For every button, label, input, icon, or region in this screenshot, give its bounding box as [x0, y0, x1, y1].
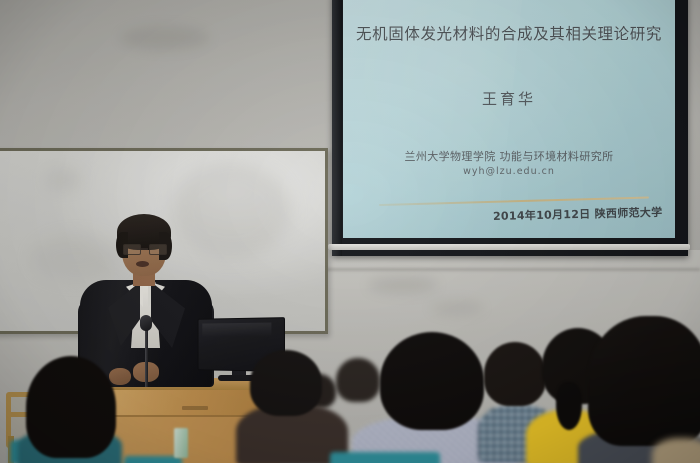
audience-hair	[484, 342, 546, 406]
slide-title: 无机固体发光材料的合成及其相关理论研究	[343, 22, 675, 44]
slide-speaker-name: 王育华	[343, 88, 675, 109]
wall-smudge	[368, 276, 438, 294]
audience-body	[652, 438, 700, 463]
screen-bottom-rail	[328, 244, 690, 250]
audience-head-back	[336, 358, 380, 402]
audience-seat	[330, 452, 440, 463]
audience	[0, 300, 700, 463]
lecture-hall-photo: 无机固体发光材料的合成及其相关理论研究 王育华 兰州大学物理学院 功能与环境材料…	[0, 0, 700, 463]
slide-affiliation: 兰州大学物理学院 功能与环境材料研究所	[343, 148, 675, 164]
projection-screen: 无机固体发光材料的合成及其相关理论研究 王育华 兰州大学物理学院 功能与环境材料…	[332, 0, 688, 256]
eyeglass-bridge	[140, 248, 148, 250]
wall-smudge	[120, 26, 210, 50]
eyeglass-lens	[123, 244, 141, 255]
eyeglasses-icon	[123, 244, 165, 253]
whiteboard-ghost-mark	[47, 173, 81, 187]
presenter-mouth	[136, 261, 149, 267]
slide-email: wyh@lzu.edu.cn	[343, 166, 675, 177]
eyeglass-lens	[149, 244, 167, 255]
audience-hair	[588, 316, 700, 446]
screen-bezel-left	[332, 0, 342, 256]
audience-water-bottle	[174, 428, 188, 458]
slide-date-venue: 2014年10月12日 陕西师范大学	[493, 204, 663, 224]
audience-hair	[26, 356, 116, 458]
audience-hair	[250, 350, 322, 416]
slide-surface: 无机固体发光材料的合成及其相关理论研究 王育华 兰州大学物理学院 功能与环境材料…	[343, 0, 675, 238]
audience-hair	[380, 332, 484, 430]
audience-ponytail	[556, 382, 582, 430]
